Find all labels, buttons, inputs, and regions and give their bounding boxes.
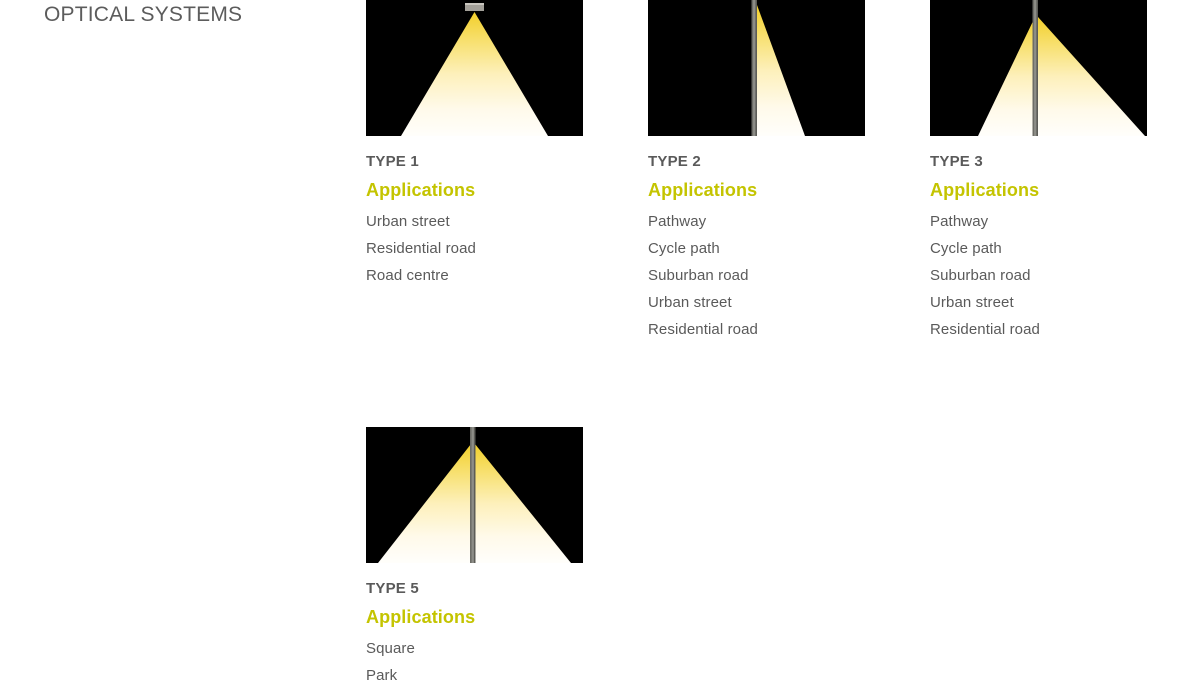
applications-list: Pathway Cycle path Suburban road Urban s…	[930, 208, 1147, 343]
card-row: TYPE 1 Applications Urban street Residen…	[366, 0, 1202, 343]
list-item: Urban street	[648, 289, 865, 316]
applications-list: Urban street Residential road Road centr…	[366, 208, 583, 289]
list-item: Residential road	[648, 316, 865, 343]
list-item: Cycle path	[648, 235, 865, 262]
card-subtitle: Applications	[648, 179, 865, 201]
card-subtitle: Applications	[366, 606, 583, 628]
optical-system-card-type-5[interactable]: TYPE 5 Applications Square Park	[366, 427, 583, 689]
list-item: Suburban road	[930, 262, 1147, 289]
optical-systems-grid: TYPE 1 Applications Urban street Residen…	[366, 0, 1202, 689]
list-item: Park	[366, 662, 583, 689]
card-subtitle: Applications	[930, 179, 1147, 201]
card-title: TYPE 2	[648, 151, 865, 172]
card-subtitle: Applications	[366, 179, 583, 201]
optical-system-card-type-3[interactable]: TYPE 3 Applications Pathway Cycle path S…	[930, 0, 1147, 343]
list-item: Road centre	[366, 262, 583, 289]
list-item: Pathway	[930, 208, 1147, 235]
list-item: Square	[366, 635, 583, 662]
optical-distribution-figure	[366, 427, 583, 563]
optical-distribution-figure	[648, 0, 865, 136]
list-item: Urban street	[366, 208, 583, 235]
page-title: OPTICAL SYSTEMS	[44, 2, 242, 28]
card-title: TYPE 3	[930, 151, 1147, 172]
optical-system-card-type-2[interactable]: TYPE 2 Applications Pathway Cycle path S…	[648, 0, 865, 343]
applications-list: Square Park	[366, 635, 583, 689]
list-item: Pathway	[648, 208, 865, 235]
card-title: TYPE 1	[366, 151, 583, 172]
list-item: Cycle path	[930, 235, 1147, 262]
list-item: Urban street	[930, 289, 1147, 316]
applications-list: Pathway Cycle path Suburban road Urban s…	[648, 208, 865, 343]
card-row: TYPE 5 Applications Square Park	[366, 427, 1202, 689]
optical-system-card-type-1[interactable]: TYPE 1 Applications Urban street Residen…	[366, 0, 583, 343]
optical-distribution-figure	[366, 0, 583, 136]
list-item: Residential road	[930, 316, 1147, 343]
optical-distribution-figure	[930, 0, 1147, 136]
list-item: Residential road	[366, 235, 583, 262]
card-title: TYPE 5	[366, 578, 583, 599]
list-item: Suburban road	[648, 262, 865, 289]
